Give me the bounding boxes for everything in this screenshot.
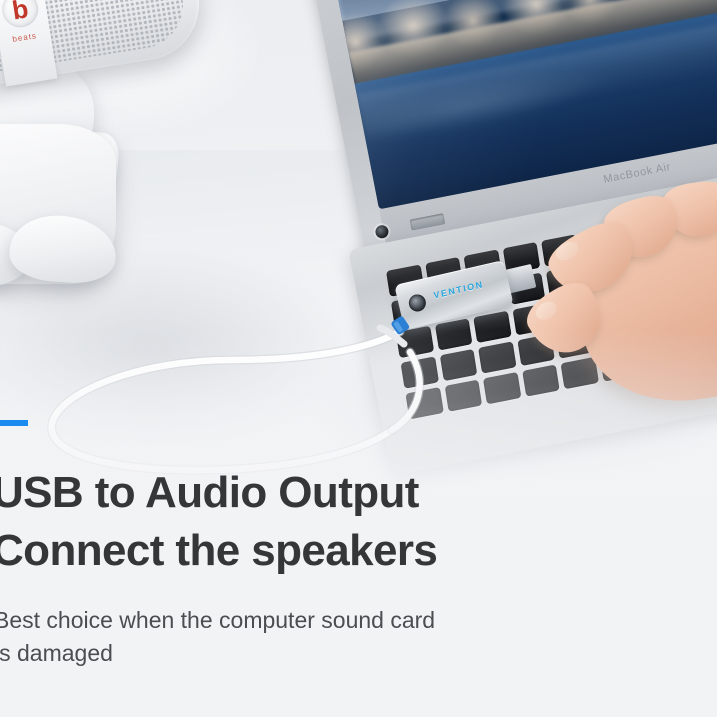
page-title: USB to Audio Output Connect the speakers [0, 464, 437, 580]
headline-line-1: USB to Audio Output [0, 464, 437, 522]
key[interactable] [444, 380, 482, 412]
key[interactable] [396, 326, 434, 358]
promo-banner: MacBook Air [0, 0, 717, 717]
key[interactable] [435, 318, 473, 350]
beats-pill-speaker: b beats [0, 0, 207, 96]
key[interactable] [473, 311, 511, 343]
page-subtitle: Best choice when the computer sound card… [0, 604, 435, 669]
accent-bar [0, 420, 28, 426]
key[interactable] [478, 341, 516, 373]
key[interactable] [439, 349, 477, 381]
key[interactable] [405, 387, 443, 419]
subtitle-line-1: Best choice when the computer sound card [0, 604, 435, 637]
beats-logo-letter: b [10, 0, 30, 23]
hand-typing [505, 163, 717, 427]
key[interactable] [483, 372, 521, 404]
key[interactable] [401, 356, 439, 388]
headline-line-2: Connect the speakers [0, 522, 437, 580]
subtitle-line-2: is damaged [0, 637, 435, 670]
beats-pill-speaker-stand: b beats [0, 0, 270, 354]
